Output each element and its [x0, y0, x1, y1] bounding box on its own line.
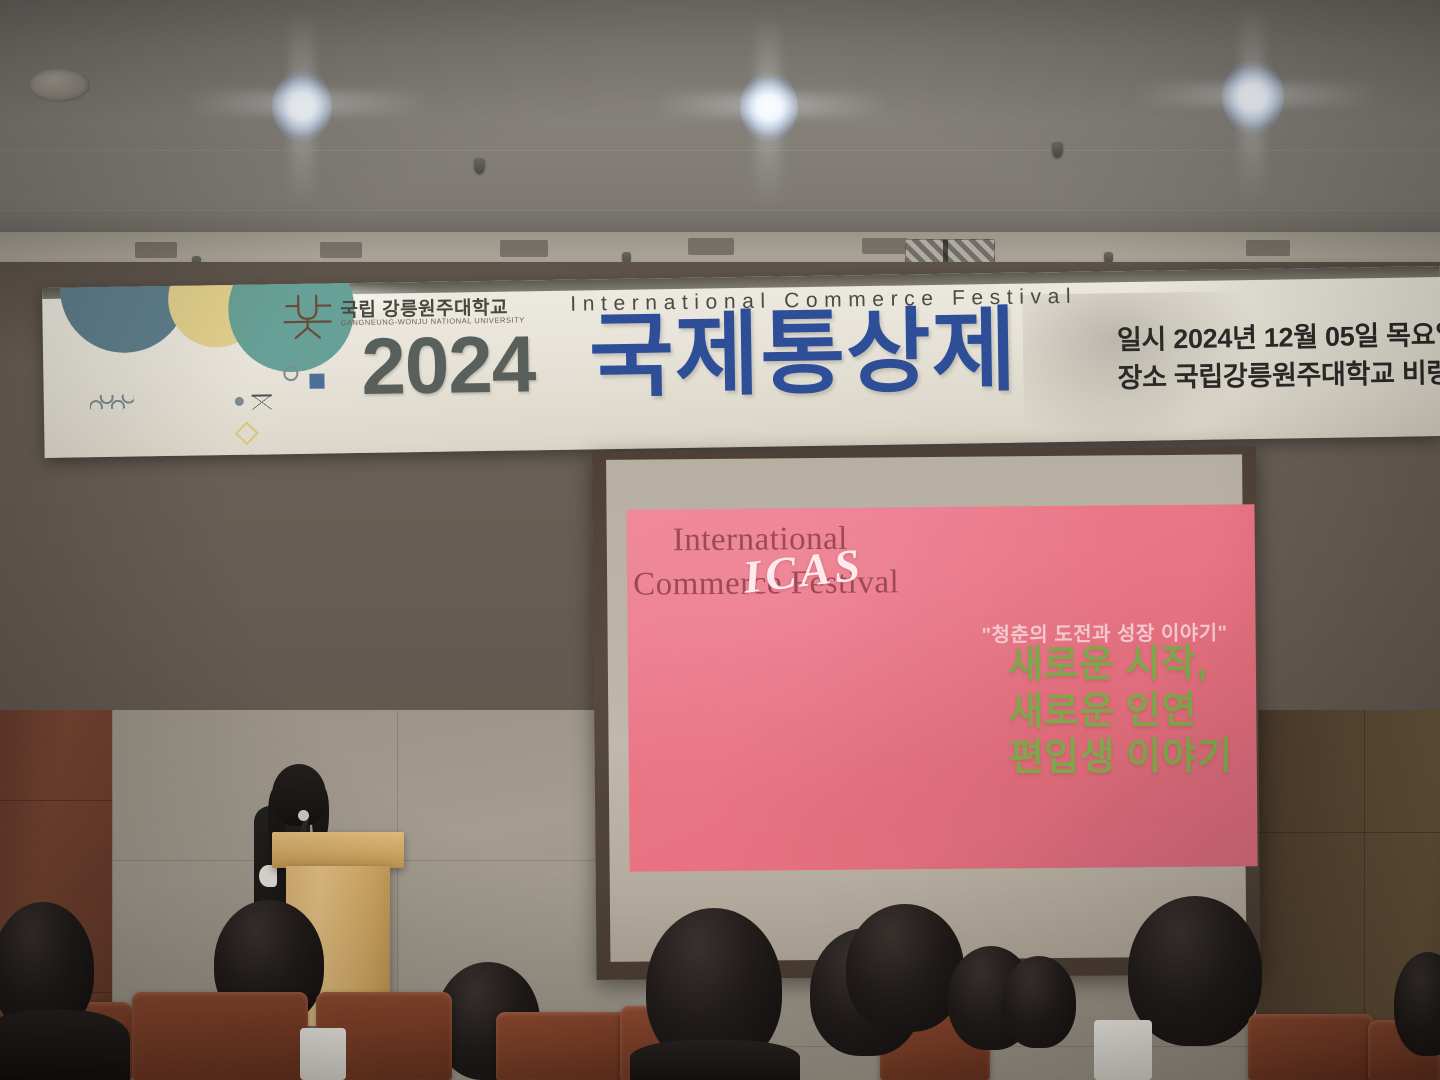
- air-vent: [500, 240, 548, 257]
- slide-subtitle: :편입생으로서의 적응과 도전: [1005, 780, 1235, 863]
- audience-head: [1002, 956, 1076, 1048]
- air-vent: [320, 242, 362, 258]
- deco-wave-line: [90, 395, 134, 410]
- auditorium-seat: [132, 992, 308, 1080]
- audience-white-item: [300, 1028, 346, 1080]
- recessed-spotlight: [272, 70, 332, 142]
- recessed-spotlight: [740, 72, 798, 142]
- air-vent: [862, 238, 908, 254]
- slide-subtitle-line1: :편입생으로서의: [1005, 780, 1235, 822]
- air-vent: [135, 242, 177, 258]
- screen-surface: International Commerce Festival ICAS "청춘…: [606, 454, 1246, 962]
- deco-outline-triangle: [252, 394, 272, 409]
- sprinkler-head: [474, 158, 485, 174]
- ceiling: [0, 0, 1440, 262]
- deco-outline-diamond: [235, 421, 259, 445]
- audience-head: [846, 904, 964, 1032]
- deco-blue-square: [309, 374, 324, 389]
- ceiling-speaker: [28, 68, 90, 102]
- auditorium-seat: [496, 1012, 628, 1080]
- sprinkler-head: [1052, 142, 1063, 158]
- deco-outline-circle: [283, 366, 298, 381]
- slide-headline-line2: 새로운 인연: [1008, 687, 1232, 736]
- slide-headline-line1: 새로운 시작,: [1008, 640, 1232, 689]
- podium-top: [272, 832, 404, 868]
- recessed-spotlight: [1222, 60, 1284, 134]
- event-banner: 국립 강릉원주대학교 GANGNEUNG-WONJU NATIONAL UNIV…: [42, 266, 1440, 458]
- auditorium-photo-scene: 국립 강릉원주대학교 GANGNEUNG-WONJU NATIONAL UNIV…: [0, 0, 1440, 1080]
- slide-headline: 새로운 시작, 새로운 인연 편입생 이야기: [1008, 640, 1233, 782]
- banner-info-venue: 장소 국립강릉원주대학교 비령아트홀: [1117, 353, 1440, 398]
- air-vent: [688, 238, 734, 255]
- audience-shoulders: [0, 1010, 130, 1080]
- banner-info-block: 일시 2024년 12월 05일 목요일 4시 장소 국립강릉원주대학교 비령아…: [1117, 315, 1440, 398]
- audience-shoulders: [630, 1040, 800, 1080]
- audience-white-item: [1094, 1020, 1152, 1080]
- presenter-sleeve-emblem: [259, 865, 277, 887]
- banner-year: 2024: [361, 324, 536, 407]
- university-logo-icon: [278, 291, 337, 340]
- slide-headline-line3: 편입생 이야기: [1009, 734, 1233, 783]
- slide-subtitle-line2: 적응과 도전: [1006, 821, 1236, 863]
- projection-screen: International Commerce Festival ICAS "청춘…: [592, 446, 1261, 980]
- banner-title-kr: 국제통상제: [588, 303, 1018, 406]
- banner-info-date: 일시 2024년 12월 05일 목요일 4시: [1117, 315, 1440, 360]
- presentation-slide: International Commerce Festival ICAS "청춘…: [627, 504, 1258, 871]
- air-vent: [1246, 240, 1290, 256]
- microphone-head-icon: [298, 810, 309, 821]
- deco-dot: [235, 397, 244, 406]
- auditorium-seat: [1248, 1014, 1374, 1080]
